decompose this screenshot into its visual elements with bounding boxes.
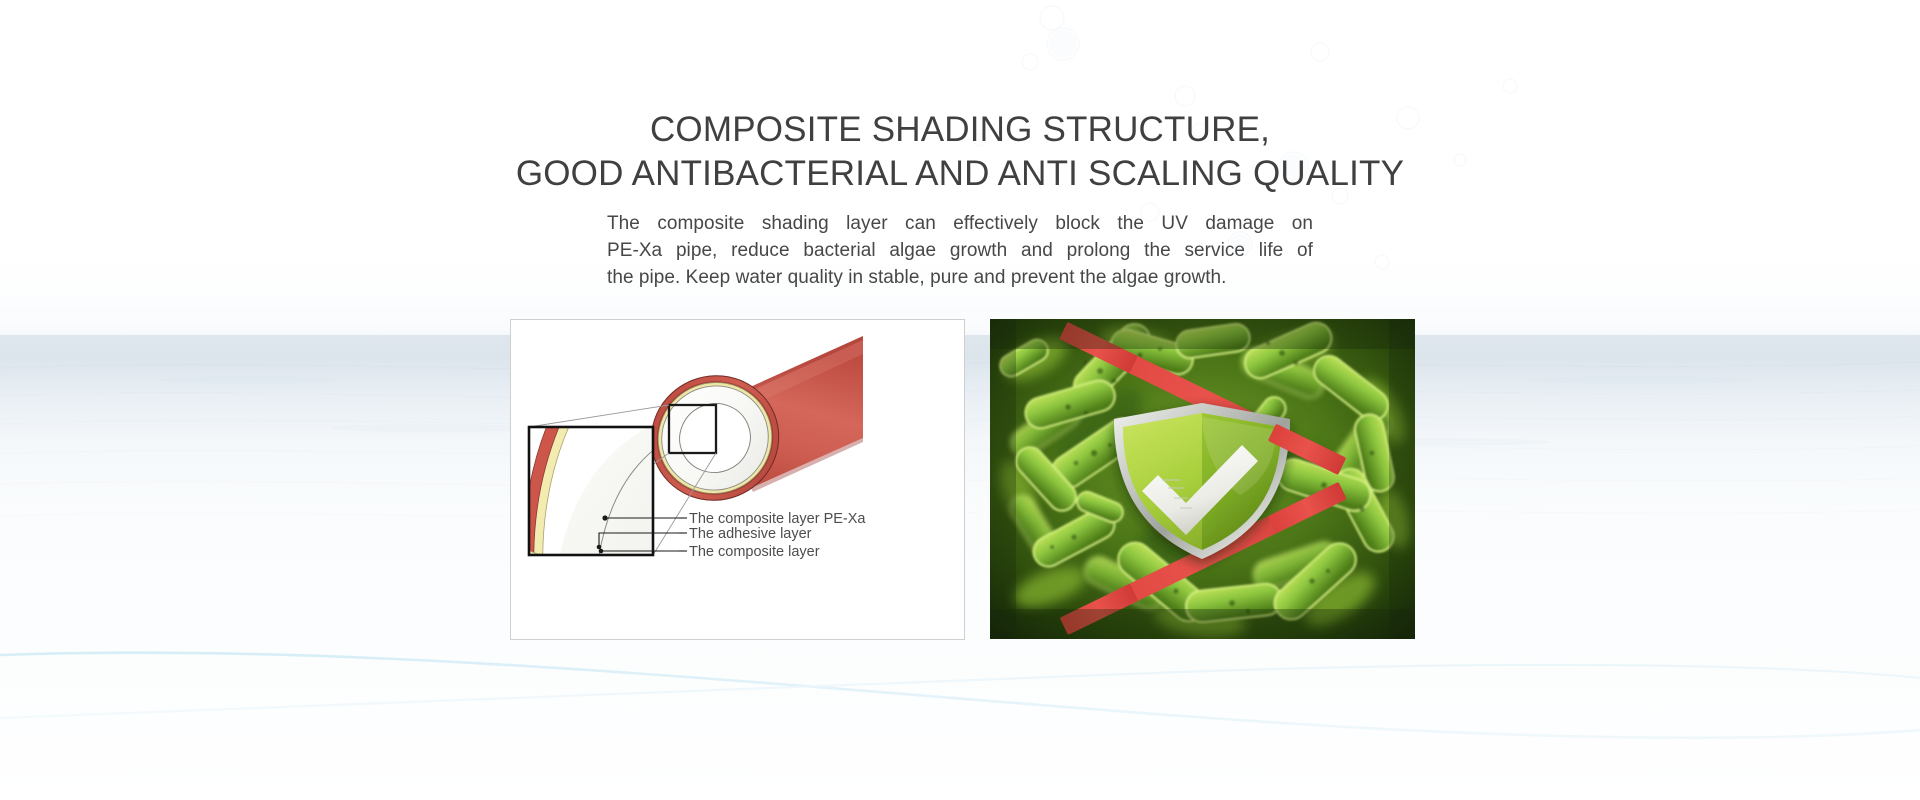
title-line-2: GOOD ANTIBACTERIAL AND ANTI SCALING QUAL… bbox=[0, 152, 1920, 196]
paragraph-line-2: PE-Xa pipe, reduce bacterial algae growt… bbox=[607, 237, 1313, 264]
blue-curve-lower bbox=[0, 665, 1920, 718]
callout-label-2: The adhesive layer bbox=[689, 526, 812, 542]
intro-paragraph: The composite shading layer can effectiv… bbox=[607, 210, 1313, 291]
antibacterial-image-panel bbox=[990, 319, 1415, 639]
header-block: COMPOSITE SHADING STRUCTURE, GOOD ANTIBA… bbox=[0, 0, 1920, 291]
page-root: COMPOSITE SHADING STRUCTURE, GOOD ANTIBA… bbox=[0, 0, 1920, 800]
antibacterial-illustration bbox=[990, 319, 1415, 639]
title-line-1: COMPOSITE SHADING STRUCTURE, bbox=[0, 108, 1920, 152]
callout-label-1: The composite layer PE-Xa bbox=[689, 511, 866, 527]
pipe-diagram-panel: The composite layer PE-Xa The adhesive l… bbox=[510, 319, 965, 640]
blue-curve-upper bbox=[0, 653, 1920, 738]
paragraph-line-1: The composite shading layer can effectiv… bbox=[607, 210, 1313, 237]
pipe-diagram-svg: The composite layer PE-Xa The adhesive l… bbox=[511, 320, 964, 639]
paragraph-line-3: the pipe. Keep water quality in stable, … bbox=[607, 264, 1313, 291]
callout-label-3: The composite layer bbox=[689, 544, 820, 560]
page-title: COMPOSITE SHADING STRUCTURE, GOOD ANTIBA… bbox=[0, 0, 1920, 196]
